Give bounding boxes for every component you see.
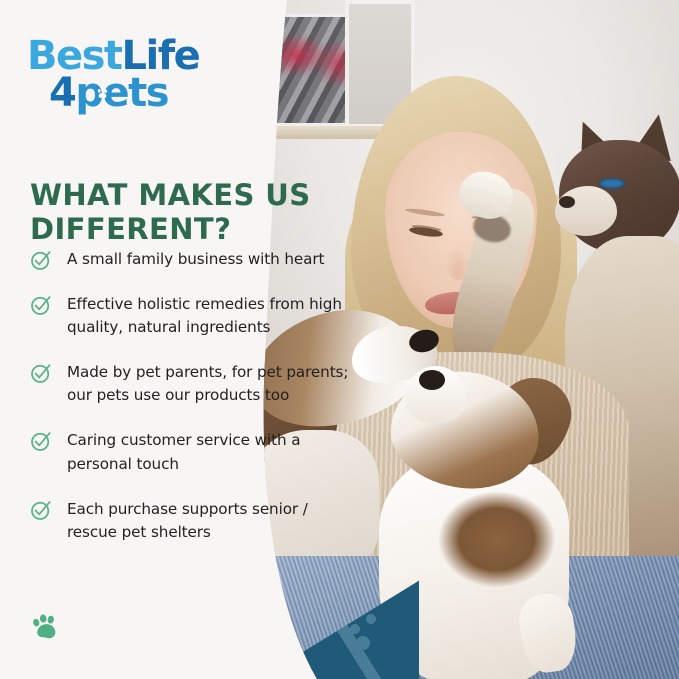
list-item: Each purchase supports senior / rescue p… <box>30 498 352 544</box>
list-item-label: Caring customer service with a personal … <box>67 429 300 475</box>
check-circle-icon <box>30 294 52 316</box>
list-item: A small family business with heart <box>30 248 352 271</box>
paw-icon <box>96 87 109 100</box>
brand-logo-four: 4 <box>49 70 75 116</box>
benefits-list: A small family business with heart Effec… <box>30 248 352 544</box>
promo-graphic: BestLife 4pets WHAT MAKES US DIFFERENT? … <box>0 0 679 679</box>
list-item-label: Effective holistic remedies from high qu… <box>67 293 342 339</box>
paw-icon <box>27 610 63 646</box>
brand-logo[interactable]: BestLife 4pets <box>27 38 199 112</box>
cat-nose <box>559 196 575 208</box>
list-item-label: Made by pet parents, for pet parents; ou… <box>67 361 348 407</box>
page-title: WHAT MAKES US DIFFERENT? <box>30 179 330 247</box>
cat-muzzle <box>555 186 617 236</box>
check-circle-icon <box>30 362 52 384</box>
brand-logo-pets: pets <box>75 70 168 116</box>
cat-eye <box>599 178 625 189</box>
list-item-label: A small family business with heart <box>67 248 324 271</box>
check-circle-icon <box>30 499 52 521</box>
brand-logo-line-2: 4pets <box>49 75 199 112</box>
shelf <box>259 126 389 139</box>
list-item: Made by pet parents, for pet parents; ou… <box>30 361 352 407</box>
dog-front-nose <box>419 370 445 390</box>
list-item: Caring customer service with a personal … <box>30 429 352 475</box>
check-circle-icon <box>30 430 52 452</box>
check-circle-icon <box>30 249 52 271</box>
list-item: Effective holistic remedies from high qu… <box>30 293 352 339</box>
list-item-label: Each purchase supports senior / rescue p… <box>67 498 308 544</box>
